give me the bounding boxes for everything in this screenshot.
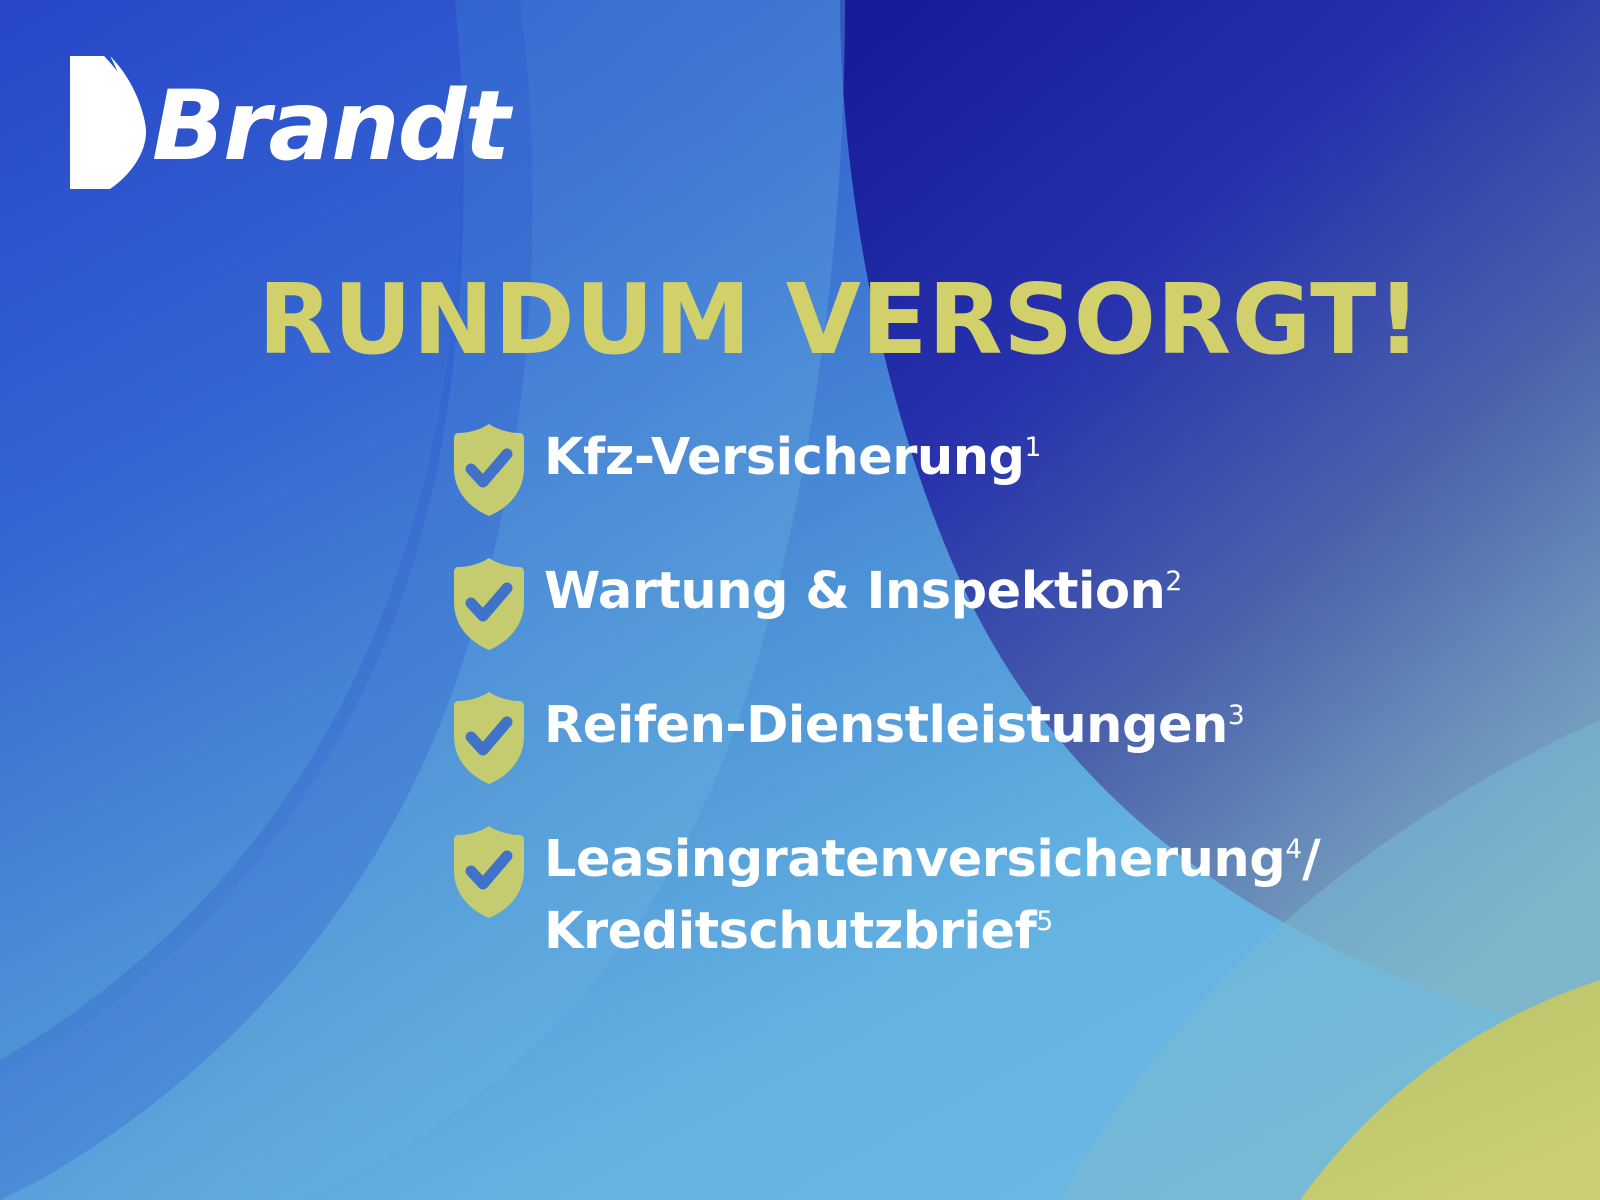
benefit-footnote: 3 [1228,700,1245,731]
shield-check-icon [452,422,526,518]
benefits-list: Kfz-Versicherung1 Wartung & Inspektion2 … [452,418,1562,1003]
shield-check-icon [452,690,526,786]
brand-name: Brandt [152,78,508,174]
benefit-label-text: Leasingratenversicherung [544,830,1285,889]
list-item: Kfz-Versicherung1 [452,418,1562,518]
benefit-label: Reifen-Dienstleistungen3 [544,686,1245,762]
bracket-crescent-logo-mark [70,56,146,189]
benefit-label: Wartung & Inspektion2 [544,552,1182,628]
benefit-label: Leasingratenversicherung4/Kreditschutzbr… [544,820,1320,969]
shield-check-icon [452,824,526,920]
benefit-separator: / [1302,830,1320,889]
benefit-footnote: 2 [1165,566,1182,597]
page-title: RUNDUM VERSORGT! [258,271,1422,368]
benefit-label-text: Wartung & Inspektion [544,562,1165,621]
list-item: Reifen-Dienstleistungen3 [452,686,1562,786]
shield-check-icon [452,556,526,652]
promo-slide: Brandt RUNDUM VERSORGT! Kfz-Versicherung… [0,0,1600,1200]
list-item: Leasingratenversicherung4/Kreditschutzbr… [452,820,1562,969]
benefit-label-text-line2: Kreditschutzbrief [544,902,1036,961]
benefit-footnote-2: 5 [1036,906,1053,937]
benefit-label: Kfz-Versicherung1 [544,418,1041,494]
benefit-footnote: 1 [1025,432,1042,463]
brand-logo: Brandt [70,52,508,192]
benefit-label-text: Reifen-Dienstleistungen [544,696,1228,755]
list-item: Wartung & Inspektion2 [452,552,1562,652]
benefit-label-text: Kfz-Versicherung [544,428,1025,487]
benefit-footnote: 4 [1285,834,1302,865]
